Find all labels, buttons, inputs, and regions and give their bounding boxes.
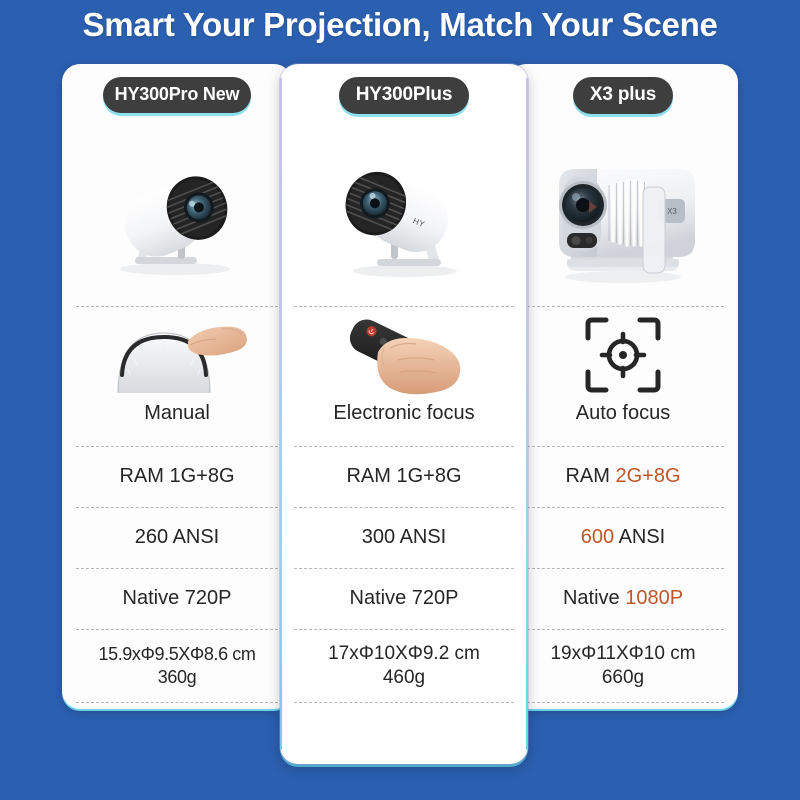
ram-prefix: RAM [119,465,169,487]
product-card-x3-plus[interactable]: X3 plus [508,64,738,709]
product-card-hy300plus[interactable]: HY300Plus [280,64,528,764]
resolution-prefix: Native [350,587,412,609]
badge-row: X3 plus [508,64,738,126]
resolution-prefix: Native [563,587,625,609]
badge-row: HY300Plus [280,64,528,126]
resolution-value: 1080P [625,587,683,609]
spec-row-end [522,702,724,721]
spec-row-end [76,702,278,721]
product-card-hy300pro-new[interactable]: HY300Pro New [62,64,292,709]
spec-row-end [294,702,514,764]
spec-brightness: 300 ANSI [294,507,514,568]
hand-dial-icon [102,311,252,399]
ansi-suffix: ANSI [614,526,665,548]
comparison-deck: HY300Pro New [62,64,738,764]
svg-text:X3: X3 [667,207,677,216]
spec-focus-method: Manual [76,306,278,446]
resolution-value: 720P [412,587,459,609]
dimensions-value: 15.9xΦ9.5XΦ8.6 cm [98,643,255,666]
focus-method-label: Manual [144,401,210,427]
spec-dimensions-weight: 17xΦ10XΦ9.2 cm 460g [294,629,514,702]
spec-brightness: 260 ANSI [76,507,278,568]
spec-ram: RAM 1G+8G [76,446,278,507]
product-image-projector-box: X3 [508,126,738,306]
product-name-badge: X3 plus [573,77,673,114]
projector-cylinder-right-icon [85,141,270,291]
spec-focus-method: Electronic focus [294,306,514,446]
product-name-badge: HY300Plus [339,77,469,114]
ansi-value: 600 [581,526,614,548]
spec-brightness: 600 ANSI [522,507,724,568]
dimensions-value: 17xΦ10XΦ9.2 cm [328,642,480,666]
page-title: Smart Your Projection, Match Your Scene [0,6,800,44]
spec-rows: Manual RAM 1G+8G 260 ANSI Native 720P 15… [62,306,292,721]
infographic-root: Smart Your Projection, Match Your Scene … [0,0,800,800]
spec-resolution: Native 720P [294,568,514,629]
weight-value: 660g [602,666,644,690]
weight-value: 360g [158,666,196,689]
ram-prefix: RAM [565,465,615,487]
spec-dimensions-weight: 15.9xΦ9.5XΦ8.6 cm 360g [76,629,278,702]
ram-prefix: RAM [346,465,396,487]
badge-row: HY300Pro New [62,64,292,126]
product-name-badge: HY300Pro New [103,77,252,113]
focus-method-label: Auto focus [576,401,671,427]
spec-resolution: Native 1080P [522,568,724,629]
product-image-projector-cylinder-left: HY [280,126,528,306]
spec-focus-method: Auto focus [522,306,724,446]
autofocus-target-icon [580,311,666,399]
product-image-projector-cylinder-right [62,126,292,306]
spec-rows: Auto focus RAM 2G+8G 600 ANSI Native 108… [508,306,738,721]
focus-method-label: Electronic focus [333,401,474,427]
ram-value: 2G+8G [615,465,680,487]
hand-remote-icon [324,311,484,399]
ansi-suffix: ANSI [168,526,219,548]
spec-dimensions-weight: 19xΦ11XΦ10 cm 660g [522,629,724,702]
resolution-value: 720P [185,587,232,609]
spec-resolution: Native 720P [76,568,278,629]
ram-value: 1G+8G [396,465,461,487]
ram-value: 1G+8G [169,465,234,487]
projector-box-icon: X3 [523,141,723,291]
spec-ram: RAM 2G+8G [522,446,724,507]
weight-value: 460g [383,666,425,690]
spec-rows: Electronic focus RAM 1G+8G 300 ANSI Nati… [280,306,528,764]
resolution-prefix: Native [123,587,185,609]
projector-cylinder-left-icon: HY [309,141,499,291]
ansi-value: 260 [135,526,168,548]
dimensions-value: 19xΦ11XΦ10 cm [550,642,695,666]
ansi-value: 300 [362,526,395,548]
spec-ram: RAM 1G+8G [294,446,514,507]
ansi-suffix: ANSI [395,526,446,548]
